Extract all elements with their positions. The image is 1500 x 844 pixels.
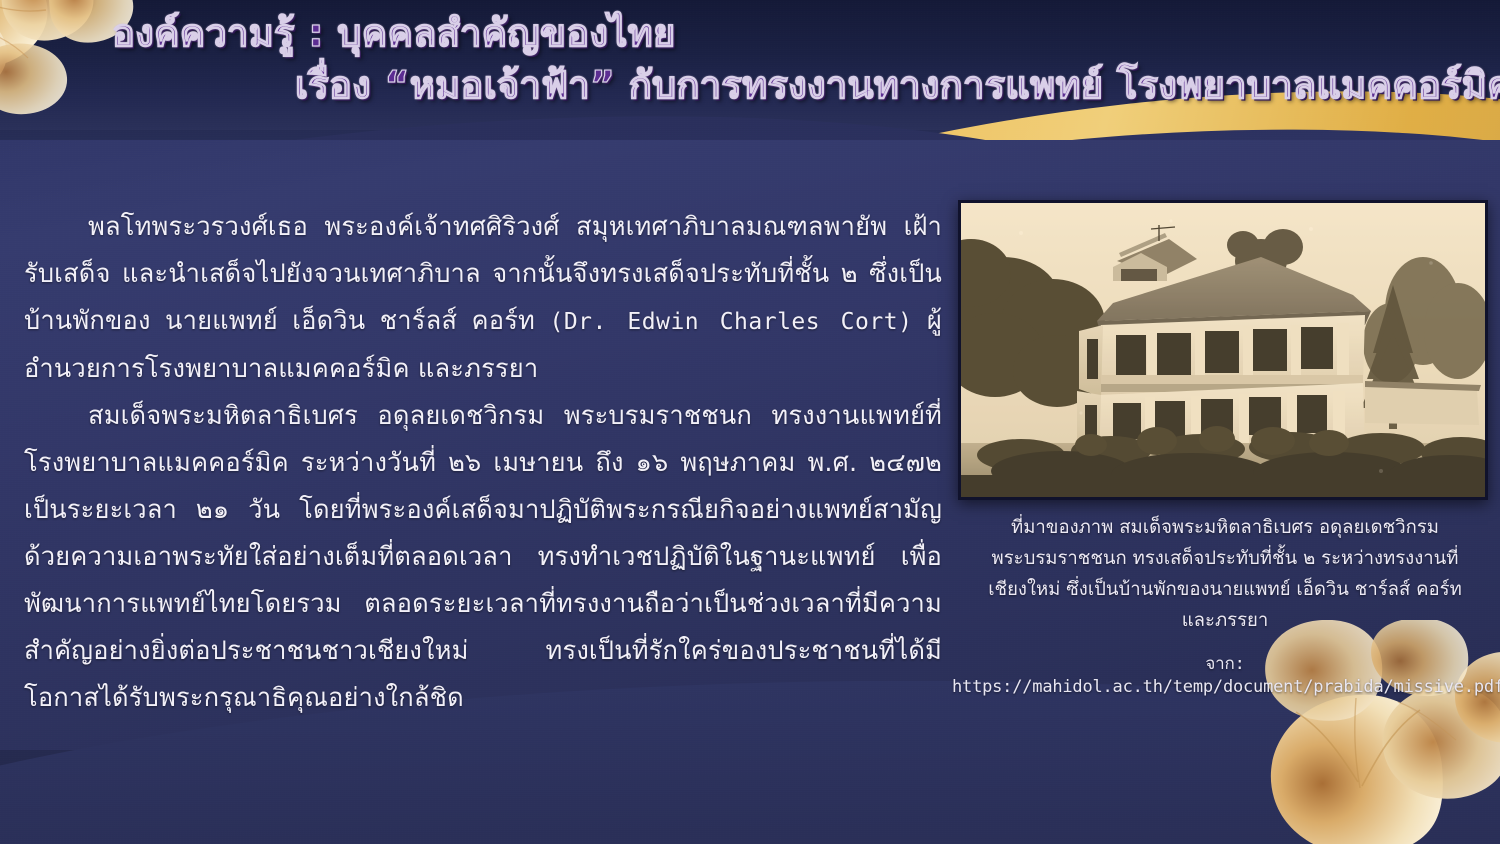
body-paragraph-2: สมเด็จพระมหิตลาธิเบศร อดุลยเดชวิกรม พระบ…: [24, 393, 942, 722]
photo-source-url[interactable]: จาก: https://mahidol.ac.th/temp/document…: [952, 650, 1498, 697]
photo-caption: ที่มาของภาพ สมเด็จพระมหิตลาธิเบศร อดุลยเ…: [952, 512, 1498, 636]
body-paragraph-1: พลโทพระวรวงศ์เธอ พระองค์เจ้าทศศิริวงศ์ ส…: [24, 204, 942, 393]
photo-caption-line-3: เชียงใหม่ ซึ่งเป็นบ้านพักของนายแพทย์ เอ็…: [952, 574, 1498, 605]
slide-root: องค์ความรู้ : บุคคลสำคัญของไทย เรื่อง “ห…: [0, 0, 1500, 844]
historical-photo-frame: [958, 200, 1488, 500]
slide-title-block: องค์ความรู้ : บุคคลสำคัญของไทย เรื่อง “ห…: [0, 10, 1500, 109]
page-title-line-1: องค์ความรู้ : บุคคลสำคัญของไทย: [0, 10, 1500, 58]
historical-photo-image: [961, 203, 1485, 497]
photo-caption-line-4: และภรรยา: [952, 605, 1498, 636]
photo-caption-line-1: ที่มาของภาพ สมเด็จพระมหิตลาธิเบศร อดุลยเ…: [952, 512, 1498, 543]
body-text-column: พลโทพระวรวงศ์เธอ พระองค์เจ้าทศศิริวงศ์ ส…: [24, 204, 942, 722]
body-paragraph-1-latin-name: (Dr. Edwin Charles Cort): [549, 309, 912, 335]
photo-caption-line-2: พระบรมราชชนก ทรงเสด็จประทับที่ชั้น ๒ ระห…: [952, 543, 1498, 574]
page-title-line-2: เรื่อง “หมอเจ้าฟ้า” กับการทรงงานทางการแพ…: [0, 62, 1500, 110]
